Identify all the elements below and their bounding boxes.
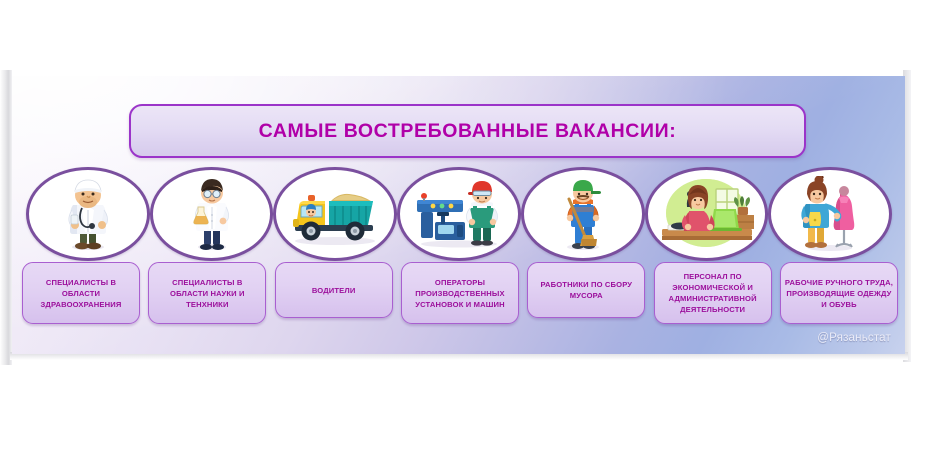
office-worker-icon [654, 173, 758, 255]
oval-machine-operators[interactable] [397, 167, 521, 261]
dump-truck-icon [287, 181, 383, 247]
oval-waste-collection[interactable] [521, 167, 645, 261]
oval-admin-economic[interactable] [645, 167, 769, 261]
machine-operator-icon [411, 178, 507, 250]
label-box-science[interactable]: СПЕЦИАЛИСТЫ В ОБЛАСТИ НАУКИ И ТЕНХНИКИ [148, 262, 266, 324]
label-box-healthcare[interactable]: СПЕЦИАЛИСТЫ В ОБЛАСТИ ЗДРАВООХРАНЕНИЯ [22, 262, 140, 324]
page-gutter-left [0, 70, 12, 365]
oval-garment-workers[interactable] [768, 167, 892, 261]
scientist-icon [182, 177, 242, 251]
doctor-icon [55, 177, 121, 251]
label-box-machine-operators[interactable]: ОПЕРАТОРЫ ПРОИЗВОДСТВЕННЫХ УСТАНОВОК И М… [401, 262, 519, 324]
category-label: РАБОТНИКИ ПО СБОРУ МУСОРА [531, 279, 641, 301]
watermark: @Рязаньстат [817, 332, 891, 344]
icon-oval-row [26, 168, 892, 260]
category-label: ВОДИТЕЛИ [312, 285, 356, 296]
category-label-row: СПЕЦИАЛИСТЫ В ОБЛАСТИ ЗДРАВООХРАНЕНИЯ СП… [22, 262, 898, 326]
slide-title-box: САМЫЕ ВОСТРЕБОВАННЫЕ ВАКАНСИИ: [129, 104, 806, 158]
slide-canvas: САМЫЕ ВОСТРЕБОВАННЫЕ ВАКАНСИИ: [12, 76, 905, 354]
category-label: СПЕЦИАЛИСТЫ В ОБЛАСТИ ЗДРАВООХРАНЕНИЯ [26, 277, 136, 310]
oval-science[interactable] [150, 167, 274, 261]
category-label: РАБОЧИЕ РУЧНОГО ТРУДА, ПРОИЗВОДЯЩИЕ ОДЕЖ… [784, 277, 894, 310]
category-label: ПЕРСОНАЛ ПО ЭКОНОМИЧЕСКОЙ И АДМИНИСТРАТИ… [658, 271, 768, 315]
category-label: СПЕЦИАЛИСТЫ В ОБЛАСТИ НАУКИ И ТЕНХНИКИ [152, 277, 262, 310]
street-sweeper-icon [553, 177, 613, 251]
infographic-page: САМЫЕ ВОСТРЕБОВАННЫЕ ВАКАНСИИ: [0, 0, 930, 465]
label-box-garment-workers[interactable]: РАБОЧИЕ РУЧНОГО ТРУДА, ПРОИЗВОДЯЩИЕ ОДЕЖ… [780, 262, 898, 324]
oval-drivers[interactable] [273, 167, 397, 261]
category-label: ОПЕРАТОРЫ ПРОИЗВОДСТВЕННЫХ УСТАНОВОК И М… [405, 277, 515, 310]
oval-healthcare[interactable] [26, 167, 150, 261]
label-box-waste-collection[interactable]: РАБОТНИКИ ПО СБОРУ МУСОРА [527, 262, 645, 318]
page-title: САМЫЕ ВОСТРЕБОВАННЫЕ ВАКАНСИИ: [259, 120, 677, 143]
label-box-drivers[interactable]: ВОДИТЕЛИ [275, 262, 393, 318]
label-box-admin-economic[interactable]: ПЕРСОНАЛ ПО ЭКОНОМИЧЕСКОЙ И АДМИНИСТРАТИ… [654, 262, 772, 324]
seamstress-icon [792, 176, 868, 252]
